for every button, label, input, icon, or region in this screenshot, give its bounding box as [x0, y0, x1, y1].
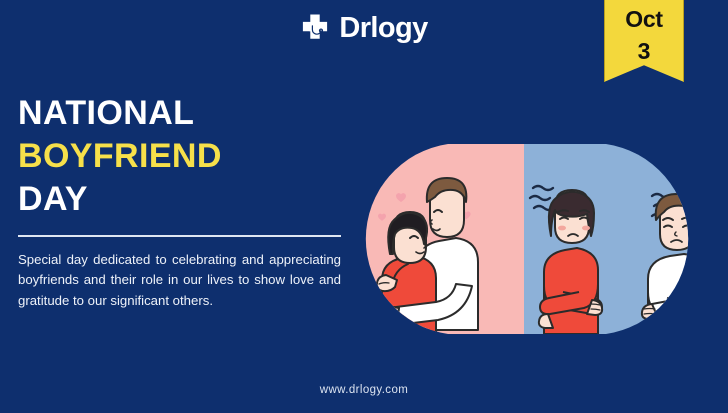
brand-name: Drlogy — [339, 14, 427, 43]
date-badge-day: 3 — [638, 40, 651, 63]
headline-line-2: BOYFRIEND — [18, 135, 343, 178]
woman-upset — [539, 190, 602, 334]
illustration — [352, 144, 702, 334]
date-badge: Oct 3 — [604, 0, 684, 82]
footer-website[interactable]: www.drlogy.com — [0, 384, 728, 396]
page-title: NATIONAL BOYFRIEND DAY — [18, 92, 343, 222]
copy-block: NATIONAL BOYFRIEND DAY Special day dedic… — [18, 92, 343, 312]
headline-line-3: DAY — [18, 178, 343, 221]
description-text: Special day dedicated to celebrating and… — [18, 250, 341, 313]
medical-cross-doctor-icon — [300, 13, 330, 43]
poster-canvas: Drlogy Oct 3 NATIONAL BOYFRIEND DAY Spec… — [0, 0, 728, 413]
headline-line-1: NATIONAL — [18, 92, 343, 135]
divider — [18, 235, 341, 237]
date-badge-month: Oct — [625, 8, 662, 31]
